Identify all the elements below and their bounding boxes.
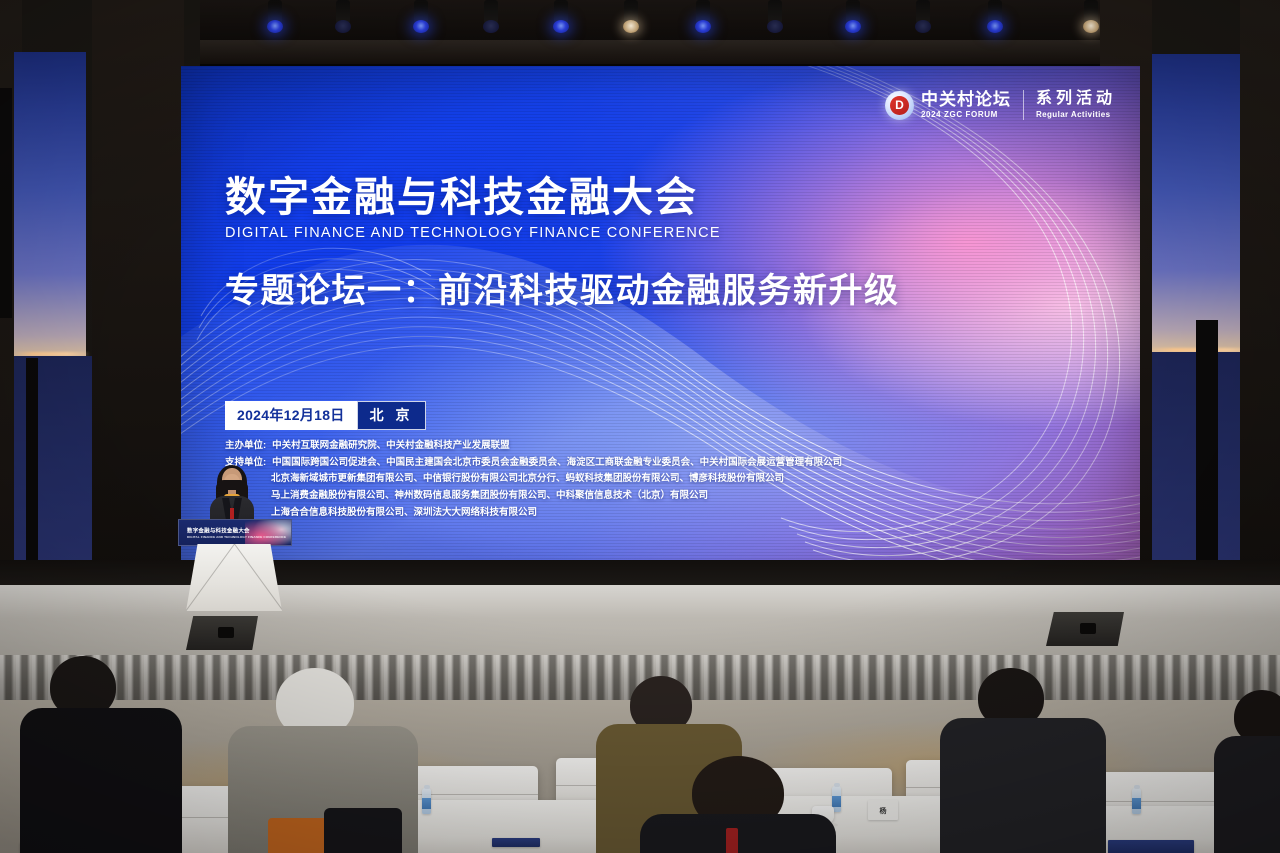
forum-session-title: 专题论坛一：前沿科技驱动金融服务新升级 <box>225 263 900 312</box>
stage-light-fixture <box>408 0 434 40</box>
event-date: 2024年12月18日 <box>225 401 357 430</box>
lectern: 数字金融与科技金融大会 DIGITAL FINANCE AND TECHNOLO… <box>178 519 290 611</box>
table-name-card <box>492 838 540 847</box>
stage-light-fixture <box>330 0 356 40</box>
organizer-row: 主办单位: 中关村互联网金融研究院、中关村金融科技产业发展联盟 <box>225 438 965 455</box>
supporter-value-line-4: 上海合合信息科技股份有限公司、深圳法大大网络科技有限公司 <box>225 505 965 522</box>
left-wall-shadow <box>92 0 184 620</box>
conference-photo-scene: D 中关村论坛 2024 ZGC FORUM 系列活动 Regular Acti… <box>0 0 1280 853</box>
stage-light-fixture <box>262 0 288 40</box>
lectern-front-panel: 数字金融与科技金融大会 DIGITAL FINANCE AND TECHNOLO… <box>178 519 292 546</box>
lectern-label-en: DIGITAL FINANCE AND TECHNOLOGY FINANCE C… <box>187 535 286 539</box>
stage-light-fixture <box>840 0 866 40</box>
event-city: 北 京 <box>357 401 427 430</box>
series-name-cn: 系列活动 <box>1036 91 1116 107</box>
date-city-badge: 2024年12月18日 北 京 <box>225 401 426 430</box>
audience-member <box>944 668 1096 853</box>
screen-credits-block: 主办单位: 中关村互联网金融研究院、中关村金融科技产业发展联盟 支持单位: 中国… <box>225 438 965 521</box>
audience-member <box>228 668 414 853</box>
screen-title-block: 数字金融与科技金融大会 DIGITAL FINANCE AND TECHNOLO… <box>225 176 900 312</box>
organizer-label: 主办单位: <box>225 438 266 455</box>
stage-light-fixture <box>618 0 644 40</box>
series-activities-mark: 系列活动 Regular Activities <box>1036 91 1116 119</box>
water-bottle <box>1132 788 1141 814</box>
stage-light-fixture <box>982 0 1008 40</box>
stage-monitor-speaker-left <box>186 616 258 650</box>
series-name-en: Regular Activities <box>1036 111 1116 119</box>
lectern-label: 数字金融与科技金融大会 DIGITAL FINANCE AND TECHNOLO… <box>187 526 286 539</box>
supporter-value-line-3: 马上消费金融股份有限公司、神州数码信息服务集团股份有限公司、中科聚信信息技术（北… <box>225 488 965 505</box>
left-wall-light-panel <box>14 52 86 360</box>
stage-monitor-speaker-right <box>1046 612 1124 646</box>
water-bottle <box>422 788 431 814</box>
zgc-medal-icon: D <box>885 91 914 120</box>
zgc-name-en: 2024 ZGC FORUM <box>921 111 1011 119</box>
zgc-forum-logo: D 中关村论坛 2024 ZGC FORUM <box>885 91 1011 120</box>
table-name-card <box>1108 840 1194 853</box>
supporter-row: 支持单位: 中国国际跨国公司促进会、中国民主建国会北京市委员会金融委员会、海淀区… <box>225 455 965 472</box>
led-stage-screen: D 中关村论坛 2024 ZGC FORUM 系列活动 Regular Acti… <box>181 66 1140 585</box>
conference-title-cn: 数字金融与科技金融大会 <box>225 176 900 219</box>
lectern-label-cn: 数字金融与科技金融大会 <box>187 529 250 535</box>
lectern-column <box>186 544 282 611</box>
zgc-medal-glyph: D <box>890 96 909 115</box>
conference-title-en: DIGITAL FINANCE AND TECHNOLOGY FINANCE C… <box>225 225 900 241</box>
left-wall-column <box>0 88 12 318</box>
audience-member <box>640 756 830 853</box>
supporter-value-line-2: 北京海新域城市更新集团有限公司、中信银行股份有限公司北京分行、蚂蚁科技集团股份有… <box>225 471 965 488</box>
audience-member <box>1224 690 1280 853</box>
zgc-forum-brand-lockup: D 中关村论坛 2024 ZGC FORUM 系列活动 Regular Acti… <box>885 90 1116 120</box>
placard-name: 杨 <box>868 806 898 816</box>
brand-divider <box>1023 90 1024 120</box>
stage-light-fixture <box>762 0 788 40</box>
stage-light-fixture <box>548 0 574 40</box>
stage-light-fixture <box>478 0 504 40</box>
zgc-name-cn: 中关村论坛 <box>921 91 1011 108</box>
stage-light-fixture <box>910 0 936 40</box>
organizer-value: 中关村互联网金融研究院、中关村金融科技产业发展联盟 <box>272 438 510 455</box>
stage-light-fixture <box>690 0 716 40</box>
supporter-value-line-1: 中国国际跨国公司促进会、中国民主建国会北京市委员会金融委员会、海淀区工商联金融专… <box>272 455 842 472</box>
audience-member <box>24 656 174 853</box>
name-placard: 杨 <box>868 800 898 820</box>
